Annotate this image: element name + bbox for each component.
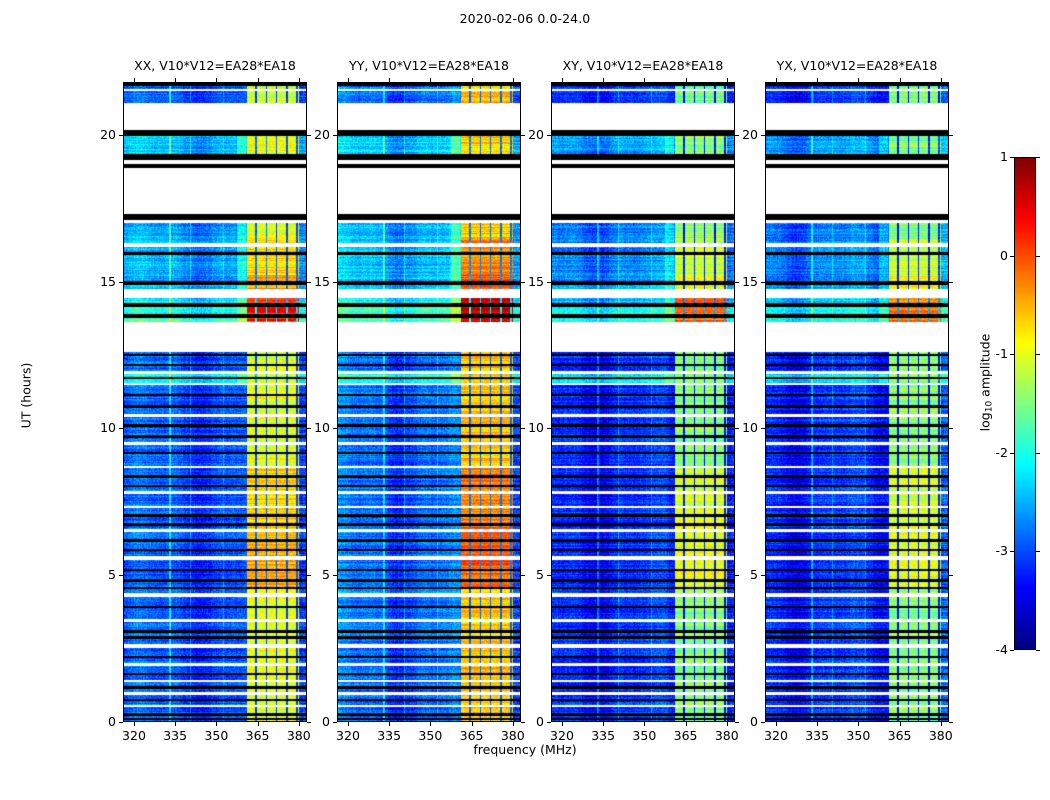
y-tick-label: 20 (289, 127, 330, 142)
x-tick-mark (216, 722, 217, 726)
y-tick-mark (547, 428, 551, 429)
x-tick-label: 335 (367, 728, 411, 743)
colorbar-tick-mark (1036, 256, 1040, 257)
x-tick-mark-top (175, 78, 176, 82)
x-tick-mark (175, 722, 176, 726)
x-tick-mark-top (644, 78, 645, 82)
x-tick-mark-top (686, 78, 687, 82)
x-tick-mark (258, 722, 259, 726)
y-tick-label: 10 (717, 420, 758, 435)
y-tick-mark (547, 282, 551, 283)
x-tick-mark-top (727, 78, 728, 82)
y-tick-mark (761, 575, 765, 576)
colorbar-tick-mark-left (1010, 256, 1014, 257)
y-tick-label: 5 (75, 567, 116, 582)
x-tick-label: 380 (277, 728, 321, 743)
y-tick-mark (119, 135, 123, 136)
colorbar-tick-label: -4 (968, 642, 1008, 657)
y-tick-mark (119, 428, 123, 429)
colorbar-tick-mark-left (1010, 453, 1014, 454)
y-tick-mark-right (949, 722, 953, 723)
x-tick-label: 320 (754, 728, 798, 743)
x-tick-label: 365 (450, 728, 494, 743)
x-tick-mark (900, 722, 901, 726)
x-tick-label: 380 (919, 728, 963, 743)
x-tick-mark (603, 722, 604, 726)
x-tick-label: 380 (491, 728, 535, 743)
y-tick-label: 10 (75, 420, 116, 435)
x-tick-label: 350 (622, 728, 666, 743)
y-tick-label: 5 (717, 567, 758, 582)
figure-canvas: 2020-02-06 0.0-24.0 XX, V10*V12=EA28*EA1… (0, 0, 1050, 800)
colorbar-tick-mark (1036, 650, 1040, 651)
panel-title-xy: XY, V10*V12=EA28*EA18 (551, 58, 735, 73)
x-tick-mark (134, 722, 135, 726)
x-tick-label: 335 (153, 728, 197, 743)
colorbar-tick-mark-left (1010, 650, 1014, 651)
y-tick-mark (119, 722, 123, 723)
panel-title-yy: YY, V10*V12=EA28*EA18 (337, 58, 521, 73)
x-tick-mark (389, 722, 390, 726)
y-tick-mark (119, 575, 123, 576)
y-tick-mark (119, 282, 123, 283)
y-tick-label: 10 (503, 420, 544, 435)
panel-title-xx: XX, V10*V12=EA28*EA18 (123, 58, 307, 73)
x-tick-mark-top (941, 78, 942, 82)
x-tick-mark-top (430, 78, 431, 82)
spectrogram-panel-xx[interactable] (123, 82, 307, 722)
colorbar-tick-label: -2 (968, 445, 1008, 460)
y-tick-mark-right (949, 575, 953, 576)
y-tick-mark (333, 575, 337, 576)
y-tick-mark-right (949, 135, 953, 136)
x-tick-mark (776, 722, 777, 726)
x-tick-mark-top (472, 78, 473, 82)
x-tick-label: 350 (194, 728, 238, 743)
x-tick-mark (817, 722, 818, 726)
x-tick-mark-top (348, 78, 349, 82)
colorbar-tick-mark (1036, 354, 1040, 355)
y-tick-mark (333, 428, 337, 429)
x-tick-mark-top (562, 78, 563, 82)
x-tick-label: 320 (112, 728, 156, 743)
y-tick-mark (547, 722, 551, 723)
x-tick-mark-top (216, 78, 217, 82)
x-tick-mark-top (776, 78, 777, 82)
y-tick-mark-right (949, 282, 953, 283)
y-tick-mark (333, 722, 337, 723)
y-tick-mark (333, 135, 337, 136)
x-tick-mark (430, 722, 431, 726)
spectrogram-panel-xy[interactable] (551, 82, 735, 722)
y-tick-label: 10 (289, 420, 330, 435)
x-tick-mark-top (817, 78, 818, 82)
x-tick-mark-top (900, 78, 901, 82)
y-tick-label: 0 (75, 714, 116, 729)
y-tick-label: 0 (503, 714, 544, 729)
x-tick-mark (472, 722, 473, 726)
x-tick-label: 335 (581, 728, 625, 743)
x-tick-label: 320 (540, 728, 584, 743)
colorbar-tick-mark-left (1010, 157, 1014, 158)
y-tick-label: 20 (75, 127, 116, 142)
x-tick-label: 320 (326, 728, 370, 743)
x-tick-mark (941, 722, 942, 726)
y-axis-label: UT (hours) (19, 326, 34, 466)
y-tick-mark (333, 282, 337, 283)
y-tick-mark (761, 428, 765, 429)
colorbar-tick-label: -3 (968, 543, 1008, 558)
spectrogram-panel-yy[interactable] (337, 82, 521, 722)
x-tick-mark-top (389, 78, 390, 82)
x-tick-label: 335 (795, 728, 839, 743)
y-tick-label: 15 (75, 274, 116, 289)
y-tick-mark (547, 575, 551, 576)
colorbar (1014, 157, 1036, 650)
y-tick-label: 5 (289, 567, 330, 582)
spectrogram-panel-yx[interactable] (765, 82, 949, 722)
x-tick-label: 365 (236, 728, 280, 743)
y-tick-mark (761, 135, 765, 136)
x-tick-label: 365 (664, 728, 708, 743)
colorbar-tick-label: 1 (968, 149, 1008, 164)
colorbar-tick-label: -1 (968, 346, 1008, 361)
x-tick-label: 380 (705, 728, 749, 743)
y-tick-label: 20 (717, 127, 758, 142)
y-tick-label: 15 (289, 274, 330, 289)
x-tick-mark-top (134, 78, 135, 82)
colorbar-tick-mark (1036, 551, 1040, 552)
panel-title-yx: YX, V10*V12=EA28*EA18 (765, 58, 949, 73)
x-tick-label: 365 (878, 728, 922, 743)
x-axis-label: frequency (MHz) (0, 742, 1050, 757)
x-tick-mark-top (299, 78, 300, 82)
colorbar-tick-mark-left (1010, 551, 1014, 552)
figure-suptitle: 2020-02-06 0.0-24.0 (0, 11, 1050, 26)
x-tick-mark (686, 722, 687, 726)
x-tick-label: 350 (836, 728, 880, 743)
y-tick-label: 15 (503, 274, 544, 289)
y-tick-mark (761, 282, 765, 283)
y-tick-label: 5 (503, 567, 544, 582)
colorbar-tick-mark (1036, 157, 1040, 158)
y-tick-mark (761, 722, 765, 723)
y-tick-label: 0 (717, 714, 758, 729)
x-tick-mark-top (258, 78, 259, 82)
x-tick-mark (348, 722, 349, 726)
x-tick-label: 350 (408, 728, 452, 743)
x-tick-mark (644, 722, 645, 726)
y-tick-mark (547, 135, 551, 136)
x-tick-mark-top (513, 78, 514, 82)
colorbar-label: log10 amplitude (978, 303, 993, 463)
y-tick-label: 0 (289, 714, 330, 729)
x-tick-mark (858, 722, 859, 726)
x-tick-mark-top (858, 78, 859, 82)
y-tick-mark-right (949, 428, 953, 429)
x-tick-mark (562, 722, 563, 726)
y-tick-label: 20 (503, 127, 544, 142)
y-tick-label: 15 (717, 274, 758, 289)
colorbar-tick-label: 0 (968, 248, 1008, 263)
colorbar-tick-mark (1036, 453, 1040, 454)
x-tick-mark-top (603, 78, 604, 82)
colorbar-tick-mark-left (1010, 354, 1014, 355)
